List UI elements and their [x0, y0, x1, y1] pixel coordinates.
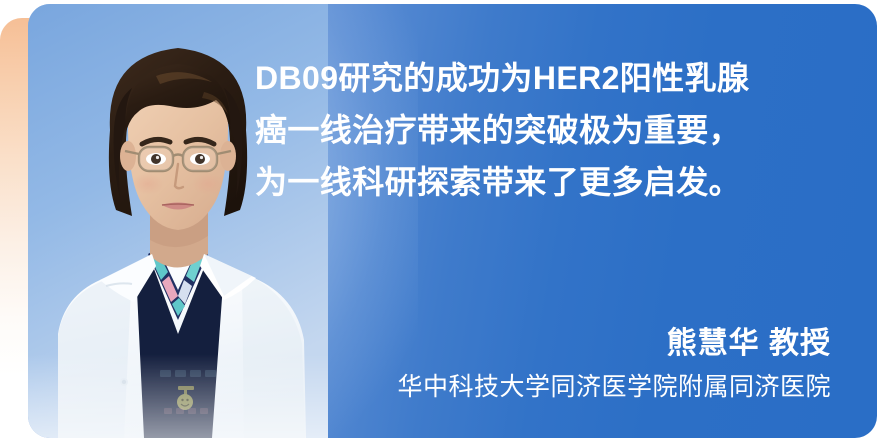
attribution-block: 熊慧华 教授 华中科技大学同济医学院附属同济医院 [397, 324, 831, 406]
quote-card-stage: DB09研究的成功为HER2阳性乳腺 癌一线治疗带来的突破极为重要， 为一线科研… [0, 0, 877, 442]
quote-line-1: DB09研究的成功为HER2阳性乳腺 [255, 52, 855, 104]
quote-card: DB09研究的成功为HER2阳性乳腺 癌一线治疗带来的突破极为重要， 为一线科研… [28, 4, 877, 438]
quote-line-3: 为一线科研探索带来了更多启发。 [255, 156, 855, 208]
speaker-name: 熊慧华 教授 [397, 324, 831, 364]
quote-line-2: 癌一线治疗带来的突破极为重要， [255, 104, 855, 156]
quote-text-block: DB09研究的成功为HER2阳性乳腺 癌一线治疗带来的突破极为重要， 为一线科研… [255, 52, 855, 208]
speaker-affiliation: 华中科技大学同济医学院附属同济医院 [397, 368, 831, 406]
